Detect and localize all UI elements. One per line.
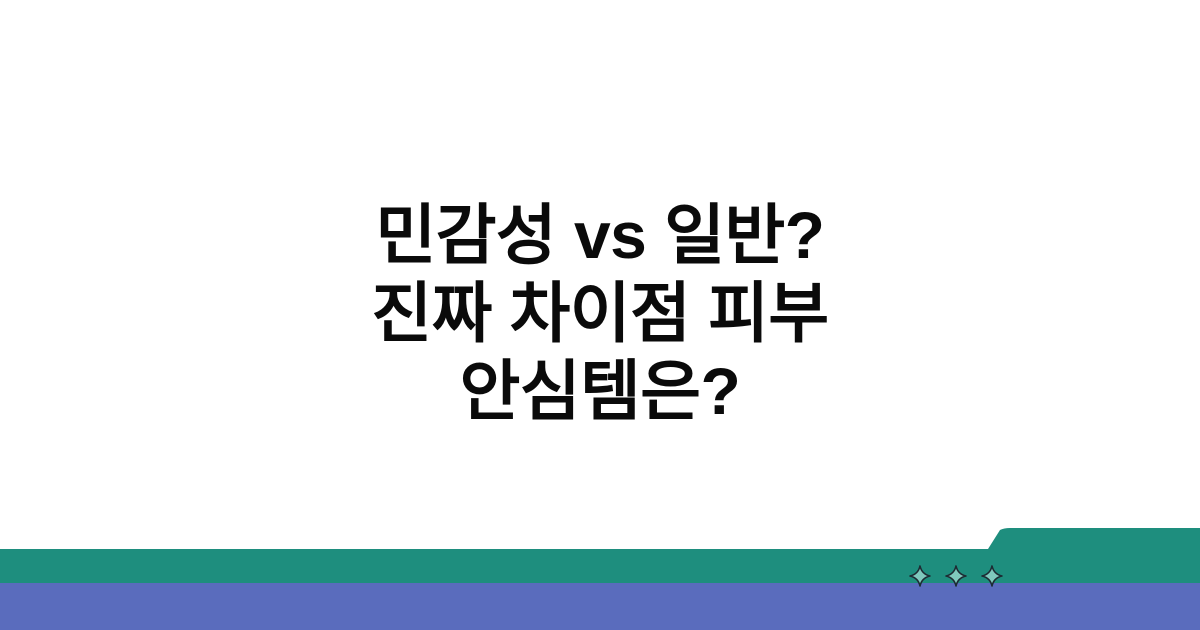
page-title: 민감성 vs 일반? 진짜 차이점 피부 안심템은?	[0, 196, 1200, 430]
teal-band-shape	[0, 528, 1200, 583]
title-line-1: 민감성 vs 일반?	[0, 196, 1200, 274]
sparkle-row	[908, 562, 1018, 590]
title-line-3: 안심템은?	[0, 352, 1200, 430]
title-line-2: 진짜 차이점 피부	[0, 274, 1200, 352]
bottom-decoration	[0, 520, 1200, 630]
sparkle-icon	[908, 564, 932, 588]
thumbnail-card: 민감성 vs 일반? 진짜 차이점 피부 안심템은?	[0, 0, 1200, 630]
sparkle-icon	[944, 564, 968, 588]
sparkle-icon	[980, 564, 1004, 588]
purple-band-shape	[0, 583, 1200, 630]
